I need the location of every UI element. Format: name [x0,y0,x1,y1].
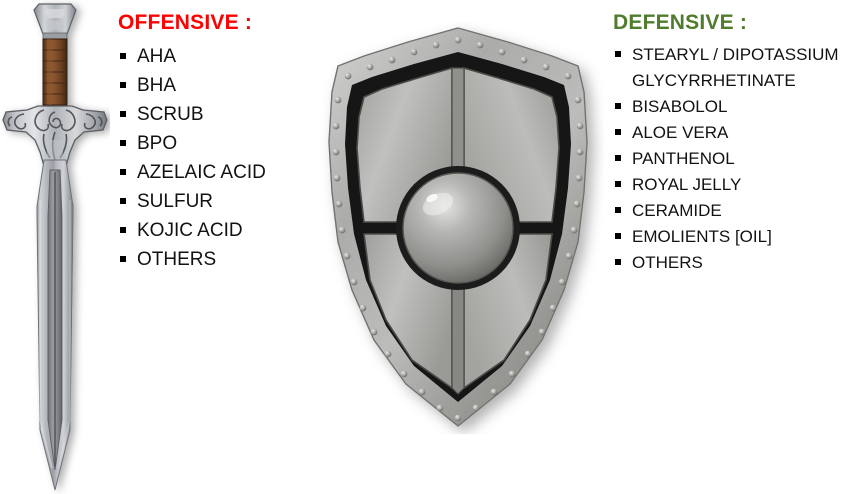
offensive-list: AHA BHA SCRUB BPO AZELAIC ACID SULFUR [118,42,368,274]
square-bullet-icon [615,155,621,161]
shield-center-boss [396,166,520,290]
square-bullet-icon [615,233,621,239]
list-item-label: STEARYL / DIPOTASSIUM GLYCYRRHETINATE [632,45,839,90]
list-item: BPO [118,129,368,158]
square-bullet-icon [120,256,126,262]
list-item-label: SCRUB [137,104,204,125]
list-item-label: BHA [137,75,176,96]
list-item: OTHERS [613,250,855,276]
defensive-heading: DEFENSIVE : [613,10,855,36]
sword-pommel [34,4,76,39]
square-bullet-icon [120,227,126,233]
sword-blade [37,160,73,490]
square-bullet-icon [615,207,621,213]
square-bullet-icon [615,181,621,187]
sword-crossguard [3,106,107,166]
list-item-label: OTHERS [632,253,703,272]
list-item: BISABOLOL [613,94,855,120]
list-item-label: EMOLIENTS [OIL] [632,227,772,246]
list-item-label: BPO [137,133,177,154]
list-item-label: KOJIC ACID [137,220,243,241]
square-bullet-icon [120,53,126,59]
defensive-column: DEFENSIVE : STEARYL / DIPOTASSIUM GLYCYR… [613,10,855,276]
list-item: OTHERS [118,245,368,274]
list-item: SULFUR [118,187,368,216]
offensive-column: OFFENSIVE : AHA BHA SCRUB BPO AZELAIC AC… [118,10,368,274]
list-item-label: OTHERS [137,249,216,270]
defensive-list: STEARYL / DIPOTASSIUM GLYCYRRHETINATE BI… [613,42,855,276]
list-item-label: PANTHENOL [632,149,735,168]
list-item: CERAMIDE [613,198,855,224]
list-item-label: ALOE VERA [632,123,728,142]
list-item: EMOLIENTS [OIL] [613,224,855,250]
list-item: BHA [118,71,368,100]
sword-grip [43,39,67,105]
list-item-label: SULFUR [137,191,213,212]
square-bullet-icon [615,51,621,57]
list-item: AZELAIC ACID [118,158,368,187]
square-bullet-icon [120,82,126,88]
offensive-heading: OFFENSIVE : [118,10,368,36]
square-bullet-icon [120,169,126,175]
square-bullet-icon [615,103,621,109]
list-item: SCRUB [118,100,368,129]
square-bullet-icon [120,198,126,204]
square-bullet-icon [120,140,126,146]
square-bullet-icon [120,111,126,117]
list-item: PANTHENOL [613,146,855,172]
list-item: ALOE VERA [613,120,855,146]
list-item-label: ROYAL JELLY [632,175,741,194]
list-item-label: BISABOLOL [632,97,727,116]
sword-illustration [0,0,110,494]
list-item-label: AZELAIC ACID [137,162,266,183]
list-item: KOJIC ACID [118,216,368,245]
square-bullet-icon [615,259,621,265]
slide-canvas: OFFENSIVE : AHA BHA SCRUB BPO AZELAIC AC… [0,0,855,494]
square-bullet-icon [615,129,621,135]
list-item-label: CERAMIDE [632,201,722,220]
list-item: ROYAL JELLY [613,172,855,198]
list-item: AHA [118,42,368,71]
list-item-label: AHA [137,46,176,67]
list-item: STEARYL / DIPOTASSIUM GLYCYRRHETINATE [613,42,855,94]
